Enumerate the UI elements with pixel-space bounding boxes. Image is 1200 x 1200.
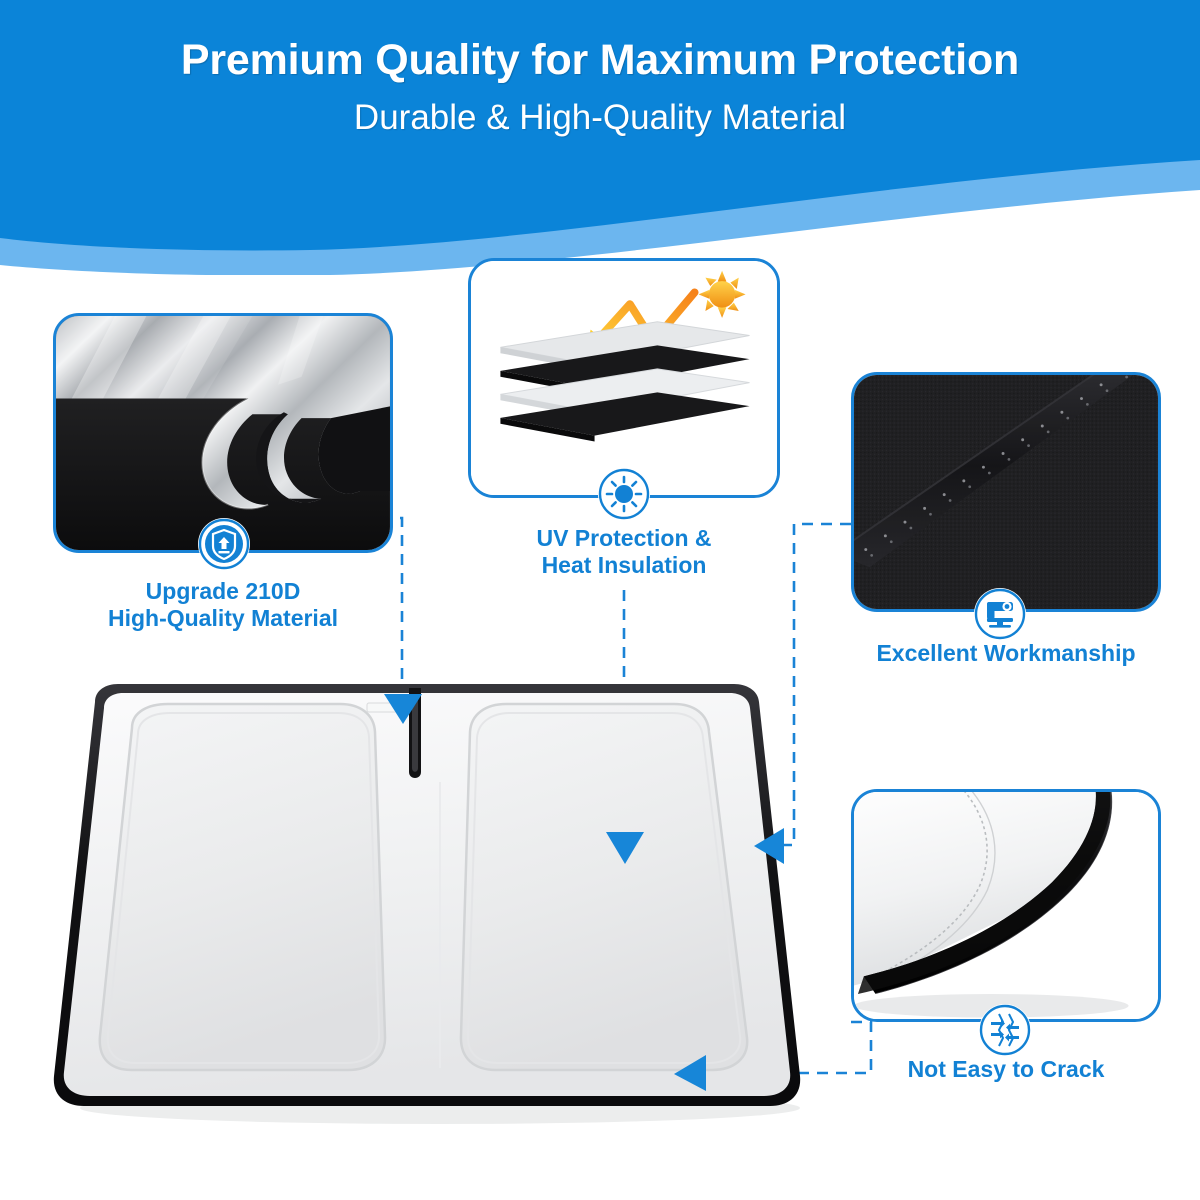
black-fabric-diagonal-stitch-photo bbox=[854, 375, 1158, 610]
header-banner: Premium Quality for Maximum Protection D… bbox=[0, 0, 1200, 275]
arrow-down-material bbox=[382, 692, 424, 726]
feature-card-material[interactable] bbox=[53, 313, 393, 553]
feature-label-workmanship: Excellent Workmanship bbox=[851, 640, 1161, 667]
feature-card-workmanship[interactable] bbox=[851, 372, 1161, 612]
sunshade-product-image bbox=[40, 676, 830, 1136]
page-subtitle: Durable & High-Quality Material bbox=[0, 98, 1200, 138]
shade-panel-right bbox=[461, 704, 747, 1070]
arrow-left-crack bbox=[672, 1053, 708, 1093]
feature-card-uv[interactable] bbox=[468, 258, 780, 498]
tear-resistance-icon bbox=[979, 1004, 1031, 1056]
sun-icon bbox=[598, 468, 650, 520]
arrow-down-uv bbox=[604, 830, 646, 866]
white-fabric-black-edge-photo bbox=[854, 792, 1158, 1020]
product-infographic: Premium Quality for Maximum Protection D… bbox=[0, 0, 1200, 1200]
four-layer-diagram bbox=[471, 261, 777, 496]
feature-label-material: Upgrade 210D High-Quality Material bbox=[53, 578, 393, 632]
silver-black-fabric-photo bbox=[56, 316, 390, 552]
sewing-machine-icon bbox=[974, 588, 1026, 640]
shield-up-icon bbox=[198, 518, 250, 570]
feature-card-crack[interactable] bbox=[851, 789, 1161, 1022]
page-title: Premium Quality for Maximum Protection bbox=[0, 36, 1200, 85]
arrow-left-workmanship bbox=[752, 826, 786, 866]
feature-label-crack: Not Easy to Crack bbox=[851, 1056, 1161, 1083]
shade-panel-left bbox=[100, 704, 385, 1070]
feature-label-uv: UV Protection & Heat Insulation bbox=[468, 525, 780, 579]
